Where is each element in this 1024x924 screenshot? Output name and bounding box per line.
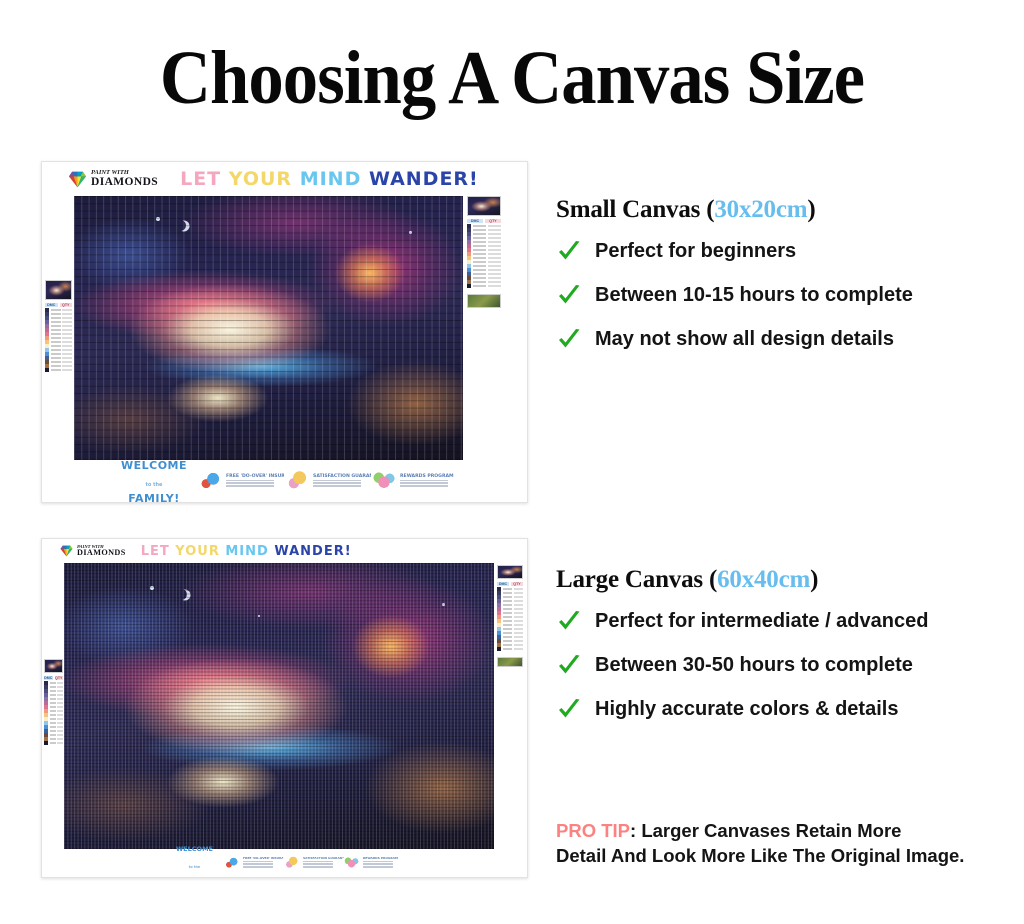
legend-left-large: DMC QTY	[44, 659, 63, 745]
feature-text: Between 10-15 hours to complete	[595, 284, 913, 306]
pro-tip-separator: :	[630, 820, 641, 841]
diamond-icon	[68, 171, 87, 188]
check-icon	[556, 326, 582, 352]
legend-header-row: DMC QTY	[467, 219, 501, 223]
badge-title: REWARDS PROGRAM	[363, 857, 393, 860]
badge-rewards-program-small: REWARDS PROGRAM	[371, 470, 448, 492]
info-block-large: Large Canvas (60x40cm) Perfect for inter…	[556, 566, 928, 740]
legend-col-qty: QTY	[511, 582, 523, 586]
legend-col-qty: QTY	[60, 303, 73, 307]
legend-header-row: DMC QTY	[45, 303, 72, 307]
sheet-footer-large: WELCOME to the FAMILY! FREE 'DO-OVER' IN…	[42, 849, 527, 877]
legend-col-qty: QTY	[485, 219, 501, 223]
tagline-word-1-large: LET	[141, 544, 170, 559]
badge-text: REWARDS PROGRAM	[363, 857, 393, 869]
sheet-header-large: PAINT WITH DIAMONDS LET YOUR MIND WANDER…	[42, 539, 527, 563]
brand-logo-small: PAINT WITH DIAMONDS	[68, 170, 158, 188]
paint-splash-icon	[197, 470, 223, 492]
legend-row	[497, 647, 523, 651]
legend-col-dmc: DMC	[497, 582, 509, 586]
heading-small-canvas: Small Canvas (30x20cm)	[556, 196, 913, 224]
badge-title: FREE 'DO-OVER' INSURANCE	[243, 857, 273, 860]
tagline-word-1-small: LET	[180, 168, 221, 190]
canvas-artwork-small	[74, 196, 463, 462]
badge-text: REWARDS PROGRAM	[400, 474, 448, 487]
star-icon	[258, 615, 260, 617]
instruction-card-thumbnail	[497, 657, 523, 667]
legend-header-row: DMC QTY	[497, 582, 523, 586]
check-icon	[556, 652, 582, 678]
feature-item: Between 30-50 hours to complete	[556, 652, 928, 678]
star-icon	[442, 603, 445, 606]
legend-col-dmc: DMC	[45, 303, 58, 307]
tagline-word-4-small: WANDER!	[369, 168, 479, 190]
feature-text: Between 30-50 hours to complete	[595, 654, 913, 676]
legend-header-row: DMC QTY	[44, 676, 63, 680]
badge-body-lines	[303, 861, 333, 868]
diamond-icon	[60, 545, 73, 557]
badge-text: SATISFACTION GUARANTEED	[313, 474, 361, 487]
brand-line2-large: DIAMONDS	[77, 549, 126, 557]
legend-col-dmc: DMC	[44, 676, 53, 680]
star-icon	[156, 217, 160, 221]
badge-satisfaction-guaranteed-large: SATISFACTION GUARANTEED	[283, 856, 333, 870]
sheet-footer-small: WELCOME to the FAMILY! FREE 'DO-OVER' IN…	[42, 460, 527, 502]
gift-icon	[343, 856, 360, 870]
feature-text: Highly accurate colors & details	[595, 698, 898, 720]
badge-satisfaction-guaranteed-small: SATISFACTION GUARANTEED	[284, 470, 361, 492]
badge-body-lines	[400, 480, 448, 487]
welcome-block-large: WELCOME to the FAMILY!	[176, 838, 213, 878]
dmc-legend-table: DMC QTY	[45, 303, 72, 372]
paint-splash-icon	[223, 856, 240, 870]
badge-rewards-program-large: REWARDS PROGRAM	[343, 856, 393, 870]
badge-body-lines	[226, 480, 274, 487]
crescent-moon-icon-large	[174, 587, 189, 602]
badge-title: REWARDS PROGRAM	[400, 474, 448, 479]
canvas-sheet-large[interactable]: PAINT WITH DIAMONDS LET YOUR MIND WANDER…	[41, 538, 528, 878]
brand-line2-small: DIAMONDS	[91, 177, 158, 189]
badge-text: SATISFACTION GUARANTEED	[303, 857, 333, 869]
brand-text-large: PAINT WITH DIAMONDS	[77, 545, 126, 558]
feature-item: Highly accurate colors & details	[556, 696, 928, 722]
heading-large-label: Large Canvas (	[556, 566, 717, 593]
heading-large-canvas: Large Canvas (60x40cm)	[556, 566, 928, 594]
badge-text: FREE 'DO-OVER' INSURANCE	[243, 857, 273, 869]
heading-large-close: )	[810, 566, 818, 593]
badge-title: SATISFACTION GUARANTEED	[313, 474, 361, 479]
artwork-thumbnail	[497, 565, 523, 579]
welcome-line3: FAMILY!	[128, 492, 180, 503]
pro-tip-line1: Larger Canvases Retain More	[641, 820, 901, 841]
sheet-header-small: PAINT WITH DIAMONDS LET YOUR MIND WANDER…	[42, 162, 527, 196]
tagline-word-2-large: YOUR	[175, 544, 220, 559]
welcome-line1: WELCOME	[176, 845, 213, 853]
dmc-legend-table: DMC QTY	[467, 219, 501, 288]
tagline-small: LET YOUR MIND WANDER!	[180, 168, 479, 190]
tagline-word-2-small: YOUR	[229, 168, 292, 190]
check-icon	[556, 608, 582, 634]
feature-text: Perfect for intermediate / advanced	[595, 610, 928, 632]
tagline-word-4-large: WANDER!	[274, 544, 351, 559]
badge-title: SATISFACTION GUARANTEED	[303, 857, 333, 860]
certificate-icon	[283, 856, 300, 870]
dmc-legend-table: DMC QTY	[497, 582, 523, 651]
canvas-artwork-large	[64, 563, 494, 851]
heading-small-close: )	[807, 196, 815, 223]
legend-right-small: DMC QTY	[467, 196, 501, 308]
canvas-sheet-small[interactable]: PAINT WITH DIAMONDS LET YOUR MIND WANDER…	[41, 161, 528, 503]
tagline-word-3-large: MIND	[225, 544, 268, 559]
welcome-block-small: WELCOME to the FAMILY!	[121, 456, 187, 503]
page-title: Choosing A Canvas Size	[36, 36, 988, 120]
brand-text-small: PAINT WITH DIAMONDS	[91, 170, 158, 188]
crescent-moon-icon-small	[173, 218, 188, 233]
welcome-line2: to the	[189, 865, 200, 869]
heading-small-label: Small Canvas (	[556, 196, 714, 223]
brand-logo-large: PAINT WITH DIAMONDS	[60, 545, 126, 558]
feature-item: May not show all design details	[556, 326, 913, 352]
feature-item: Perfect for intermediate / advanced	[556, 608, 928, 634]
diamond-grid-art-large	[64, 563, 494, 851]
diamond-grid-art-small	[74, 196, 463, 462]
artwork-thumbnail	[45, 280, 72, 300]
heading-large-dimensions: 60x40cm	[717, 566, 810, 593]
info-block-small: Small Canvas (30x20cm) Perfect for begin…	[556, 196, 913, 370]
badge-text: FREE 'DO-OVER' INSURANCE	[226, 474, 274, 487]
check-icon	[556, 696, 582, 722]
pro-tip-label: PRO TIP	[556, 820, 630, 841]
welcome-line2: to the	[146, 482, 163, 488]
legend-right-large: DMC QTY	[497, 565, 523, 667]
badge-body-lines	[313, 480, 361, 487]
feature-item: Between 10-15 hours to complete	[556, 282, 913, 308]
pro-tip-line2: Detail And Look More Like The Original I…	[556, 845, 964, 866]
heading-small-dimensions: 30x20cm	[714, 196, 807, 223]
badge-body-lines	[363, 861, 393, 868]
tagline-large: LET YOUR MIND WANDER!	[141, 544, 352, 559]
gift-icon	[371, 470, 397, 492]
badge-do-over-insurance-large: FREE 'DO-OVER' INSURANCE	[223, 856, 273, 870]
legend-row	[45, 368, 72, 372]
welcome-line1: WELCOME	[121, 459, 187, 472]
legend-left-small: DMC QTY	[45, 280, 72, 372]
badge-title: FREE 'DO-OVER' INSURANCE	[226, 474, 274, 479]
artwork-thumbnail	[467, 196, 501, 216]
legend-col-qty: QTY	[55, 676, 64, 680]
pro-tip-note: PRO TIP: Larger Canvases Retain More Det…	[556, 818, 964, 868]
check-icon	[556, 238, 582, 264]
badge-body-lines	[243, 861, 273, 868]
dmc-legend-table: DMC QTY	[44, 676, 63, 745]
feature-text: May not show all design details	[595, 328, 894, 350]
instruction-card-thumbnail	[467, 294, 501, 308]
legend-row	[467, 284, 501, 288]
certificate-icon	[284, 470, 310, 492]
artwork-thumbnail	[44, 659, 63, 673]
feature-text: Perfect for beginners	[595, 240, 796, 262]
star-icon	[409, 231, 412, 234]
star-icon	[150, 586, 154, 590]
badge-do-over-insurance-small: FREE 'DO-OVER' INSURANCE	[197, 470, 274, 492]
check-icon	[556, 282, 582, 308]
tagline-word-3-small: MIND	[300, 168, 362, 190]
feature-item: Perfect for beginners	[556, 238, 913, 264]
legend-row	[44, 741, 63, 745]
legend-col-dmc: DMC	[467, 219, 483, 223]
